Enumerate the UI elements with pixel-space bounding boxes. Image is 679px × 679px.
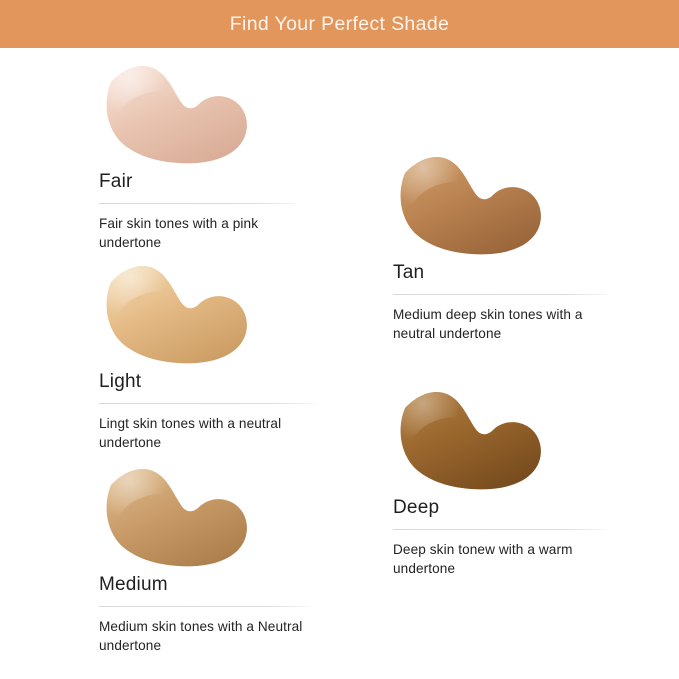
shade-card-medium[interactable]: Medium Medium skin tones with a Neutral …	[99, 463, 313, 655]
foundation-swatch-icon	[395, 151, 550, 259]
swatch-light	[101, 260, 256, 368]
shade-name: Medium	[99, 573, 313, 597]
shade-grid: Fair Fair skin tones with a pink underto…	[0, 48, 679, 679]
swatch-fair	[101, 60, 256, 168]
shade-name: Light	[99, 370, 318, 394]
shade-card-fair[interactable]: Fair Fair skin tones with a pink underto…	[99, 60, 299, 252]
shade-card-tan[interactable]: Tan Medium deep skin tones with a neutra…	[393, 151, 611, 343]
shade-card-light[interactable]: Light Lingt skin tones with a neutral un…	[99, 260, 318, 452]
shade-divider	[393, 294, 611, 295]
shade-divider	[393, 529, 609, 530]
shade-description: Medium skin tones with a Neutral underto…	[99, 617, 313, 656]
foundation-swatch-icon	[101, 60, 256, 168]
page-title: Find Your Perfect Shade	[230, 13, 449, 36]
shade-description: Deep skin tonew with a warm undertone	[393, 540, 609, 579]
shade-card-deep[interactable]: Deep Deep skin tonew with a warm underto…	[393, 386, 609, 578]
shade-description: Fair skin tones with a pink undertone	[99, 214, 299, 253]
page-header-banner: Find Your Perfect Shade	[0, 0, 679, 48]
shade-divider	[99, 403, 318, 404]
shade-description: Medium deep skin tones with a neutral un…	[393, 305, 611, 344]
shade-name: Fair	[99, 170, 299, 194]
foundation-swatch-icon	[395, 386, 550, 494]
swatch-medium	[101, 463, 256, 571]
foundation-swatch-icon	[101, 260, 256, 368]
shade-name: Tan	[393, 261, 611, 285]
shade-divider	[99, 606, 313, 607]
shade-description: Lingt skin tones with a neutral underton…	[99, 414, 318, 453]
swatch-tan	[395, 151, 550, 259]
shade-name: Deep	[393, 496, 609, 520]
shade-divider	[99, 203, 299, 204]
foundation-swatch-icon	[101, 463, 256, 571]
swatch-deep	[395, 386, 550, 494]
